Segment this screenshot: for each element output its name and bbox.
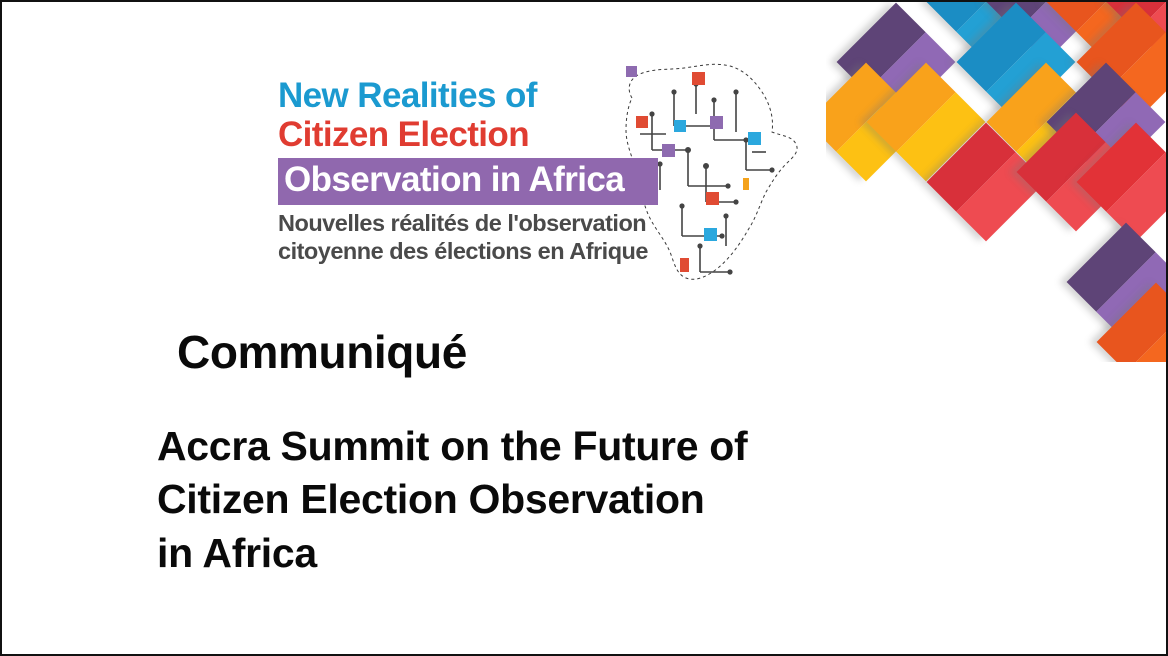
diamond-half-light — [1046, 142, 1135, 231]
diamond-tile — [957, 3, 1076, 122]
diamond-pattern-decoration — [826, 2, 1166, 362]
diamond-half-dark — [826, 63, 896, 152]
diamond-half-light — [1076, 2, 1165, 61]
diamond-tile — [837, 3, 956, 122]
diamond-half-dark — [927, 123, 1016, 212]
diamond-half-dark — [1047, 63, 1136, 152]
diamond-half-light — [1016, 2, 1105, 61]
page-title-line-2: Citizen Election Observation — [157, 473, 917, 526]
diamond-half-light — [1096, 252, 1166, 341]
diamond-tile — [1077, 123, 1166, 242]
diamond-half-light — [1136, 2, 1166, 61]
diamond-half-light — [1016, 92, 1105, 181]
diamond-tile — [1067, 223, 1166, 342]
diamond-tile — [927, 123, 1046, 242]
diamond-half-light — [1106, 32, 1166, 121]
diamond-tile — [987, 2, 1106, 61]
diamond-half-dark — [1067, 223, 1156, 312]
diamond-half-light — [896, 92, 985, 181]
diamond-half-dark — [1047, 2, 1136, 32]
diamond-tile — [1047, 2, 1166, 61]
diamond-half-dark — [1097, 283, 1166, 362]
logo-french-line-1: Nouvelles réalités de l'observation — [278, 210, 670, 238]
diamond-half-dark — [867, 63, 956, 152]
diamond-half-dark — [987, 2, 1076, 32]
logo-line-2: Citizen Election — [278, 113, 670, 152]
diamond-half-dark — [957, 3, 1046, 92]
diamond-half-light — [1126, 312, 1166, 362]
diamond-half-light — [866, 32, 955, 121]
diamond-tile — [1107, 2, 1166, 61]
diamond-tile — [987, 63, 1106, 182]
diamond-half-light — [1106, 152, 1166, 241]
diamond-half-light — [956, 152, 1045, 241]
diamond-half-dark — [1077, 3, 1166, 92]
diamond-half-light — [836, 92, 925, 181]
logo-banner-line: Observation in Africa — [278, 158, 658, 205]
logo-line-1: New Realities of — [278, 72, 670, 113]
diamond-half-light — [956, 2, 1045, 61]
logo-french-line-2: citoyenne des élections en Afrique — [278, 238, 670, 266]
diamond-tile — [867, 63, 986, 182]
communique-kicker: Communiqué — [177, 327, 467, 378]
slide-canvas: New Realities of Citizen Election Observ… — [0, 0, 1168, 656]
diamond-half-light — [1076, 92, 1165, 181]
diamond-half-dark — [927, 2, 1016, 32]
summit-logo: New Realities of Citizen Election Observ… — [278, 72, 798, 287]
diamond-tile — [826, 63, 925, 182]
diamond-half-light — [986, 32, 1075, 121]
diamond-half-dark — [987, 63, 1076, 152]
page-title-line-1: Accra Summit on the Future of — [157, 420, 917, 473]
logo-text-block: New Realities of Citizen Election Observ… — [278, 72, 670, 266]
page-title: Accra Summit on the Future of Citizen El… — [157, 420, 917, 580]
diamond-tile — [1017, 113, 1136, 232]
diamond-half-dark — [1017, 113, 1106, 202]
page-title-line-3: in Africa — [157, 527, 917, 580]
diamond-half-dark — [1107, 2, 1166, 32]
diamond-half-dark — [1077, 123, 1166, 212]
diamond-tile — [927, 2, 1046, 61]
diamond-tile — [1077, 3, 1166, 122]
diamond-tile — [1097, 283, 1166, 362]
diamond-tile — [1047, 63, 1166, 182]
diamond-half-dark — [837, 3, 926, 92]
